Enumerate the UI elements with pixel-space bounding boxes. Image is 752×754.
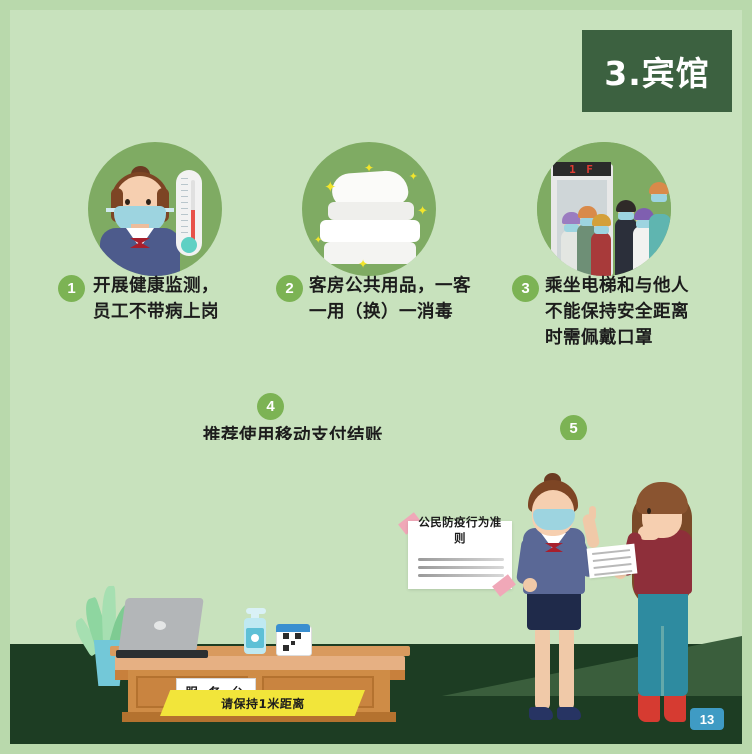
leg-left — [535, 626, 550, 710]
poster-body-lines — [418, 558, 504, 582]
item-number-badge-2: 2 — [276, 275, 303, 302]
item-number-badge-3: 3 — [512, 275, 539, 302]
staff-figure — [98, 166, 182, 276]
item-caption-1: 开展健康监测， 员工不带病上岗 — [93, 274, 283, 326]
person-body — [649, 214, 671, 276]
sparkle-icon: ✦ — [364, 162, 374, 174]
infographic-page: 3.宾馆 — [0, 0, 752, 754]
greeting-staff-figure — [515, 476, 595, 726]
item-number-badge-5: 5 — [560, 415, 587, 442]
illustration-circle-elevator-crowd: 1 F — [537, 142, 671, 276]
elevator-floor-number: 1 F — [569, 163, 595, 176]
hair — [636, 482, 688, 514]
towel-middle — [320, 220, 420, 242]
thermometer-icon — [176, 170, 202, 256]
item-caption-2: 客房公共用品，一客 一用（换）一消毒 — [309, 274, 509, 326]
social-distance-floor-marker: 请保持1米距离 — [160, 690, 365, 716]
pointing-finger — [589, 506, 596, 520]
eye-right — [146, 199, 151, 205]
face-mask — [533, 509, 575, 530]
hand-left — [523, 578, 537, 592]
page-title: 3.宾馆 — [604, 47, 710, 95]
leg-right — [559, 626, 574, 710]
illustration-circle-health-check — [88, 142, 222, 276]
thermometer-bulb — [181, 237, 197, 253]
towel-top — [328, 202, 414, 220]
qr-code-icon — [283, 633, 301, 651]
illustration-circle-clean-linens: ✦ ✦ ✦ ✦ ✦ ✦ — [302, 142, 436, 276]
person-body — [591, 232, 611, 276]
guest-figure — [620, 478, 706, 726]
eye-left — [125, 199, 130, 205]
sparkle-icon: ✦ — [314, 236, 322, 246]
person-mask — [651, 194, 667, 202]
sparkle-icon: ✦ — [324, 180, 337, 195]
elevator-floor-display: 1 F — [553, 162, 611, 176]
person-hair — [592, 214, 611, 226]
towel-bottom — [324, 242, 416, 264]
item-caption-3: 乘坐电梯和与他人 不能保持安全距离 时需佩戴口罩 — [545, 274, 730, 352]
section-title-banner: 3.宾馆 — [582, 30, 732, 112]
laptop-base — [116, 650, 208, 658]
thermometer-scale — [181, 178, 188, 240]
floor-marker-label: 请保持1米距离 — [220, 695, 305, 712]
qr-terminal-header — [276, 624, 310, 632]
laptop-logo — [154, 621, 166, 630]
person-mask — [594, 226, 609, 234]
shoe-right — [557, 707, 581, 720]
infographic-card: 3.宾馆 — [10, 10, 742, 744]
sparkle-icon: ✦ — [417, 204, 428, 217]
boot-right — [664, 692, 686, 722]
sanitizer-cross-icon — [251, 634, 259, 642]
item-number-badge-4: 4 — [257, 393, 284, 420]
jeans-seam — [661, 626, 664, 696]
shoe-left — [529, 707, 553, 720]
eye — [647, 508, 651, 514]
hotel-lobby-scene: 公民防疫行为准则 服 务 台 — [10, 440, 742, 744]
person-mask — [618, 212, 634, 220]
item-number-badge-1: 1 — [58, 275, 85, 302]
page-number-badge: 13 — [690, 708, 724, 730]
registration-papers — [587, 544, 638, 579]
poster-title: 公民防疫行为准则 — [414, 514, 506, 546]
sparkle-icon: ✦ — [409, 172, 418, 183]
sparkle-icon: ✦ — [358, 258, 368, 270]
boot-left — [638, 692, 660, 722]
